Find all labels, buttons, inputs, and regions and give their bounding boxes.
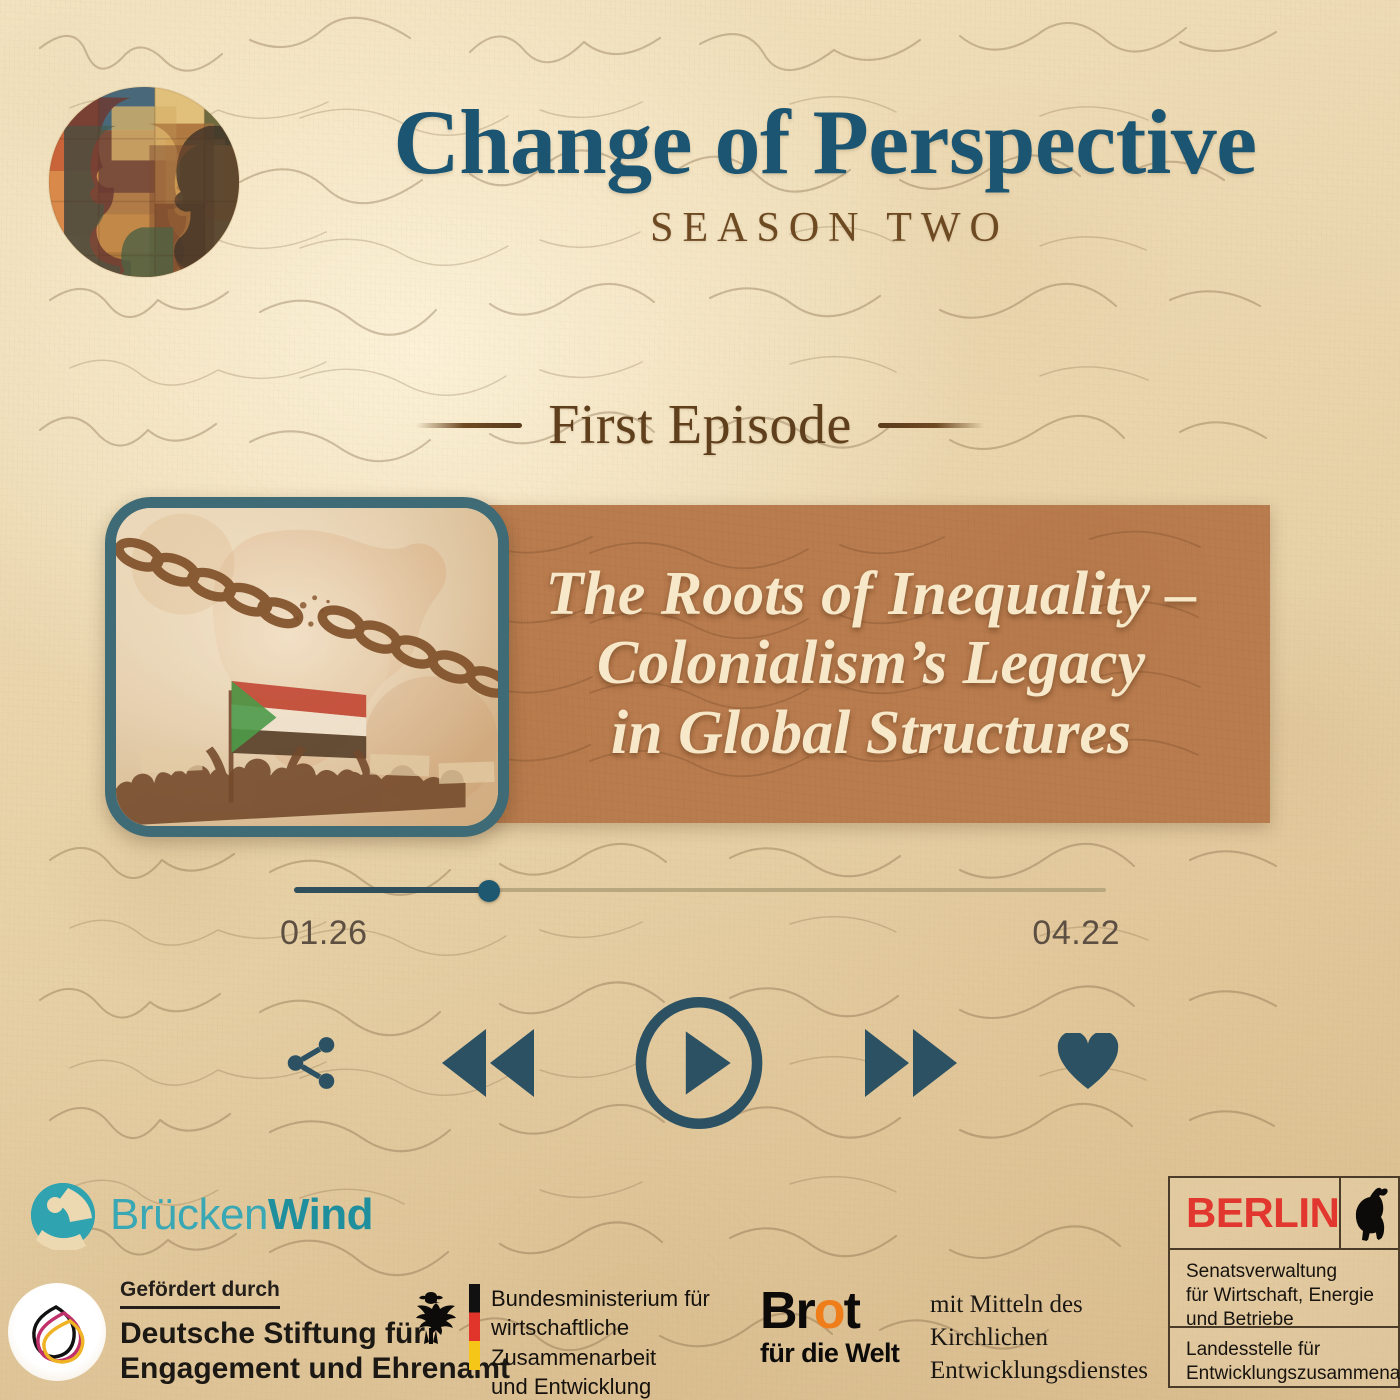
- brueckenwind-part-1: Brücken: [110, 1190, 268, 1239]
- title-block: Change of Perspective SEASON TWO: [280, 96, 1370, 252]
- fast-forward-button[interactable]: [859, 1022, 963, 1104]
- broken-chain-sudan-flag-protest-artwork-icon: [116, 508, 498, 826]
- episode-title-line-1: The Roots of Inequality –: [545, 560, 1196, 628]
- ked-text-block: mit Mitteln des Kirchlichen Entwicklungs…: [930, 1288, 1148, 1387]
- berlin-dept-line-3: und Betriebe: [1186, 1309, 1294, 1330]
- berlin-wordmark: BERLIN: [1170, 1178, 1339, 1248]
- bmz-text: Bundesministerium für wirtschaftliche Zu…: [491, 1284, 741, 1400]
- play-icon: [633, 997, 765, 1129]
- episode-title-line-2: Colonialism’s Legacy: [597, 629, 1145, 697]
- page-title: Change of Perspective: [280, 96, 1370, 190]
- fast-forward-icon: [859, 1022, 963, 1104]
- episode-title: The Roots of Inequality – Colonialism’s …: [490, 560, 1270, 768]
- berlin-office-line-1: Landesstelle für: [1186, 1339, 1320, 1360]
- heart-icon: [1056, 1033, 1120, 1093]
- bmz-line-2: wirtschaftliche Zusammenarbeit: [491, 1315, 656, 1369]
- faces-collage-logo-icon: [36, 74, 252, 290]
- dsee-droplet-mark-icon: [8, 1283, 106, 1381]
- progress-slider[interactable]: [294, 880, 1106, 900]
- berlin-dept-line-2: für Wirtschaft, Energie: [1186, 1285, 1374, 1306]
- brot-fuer-die-welt-logo: Brot für die Welt: [760, 1288, 899, 1369]
- brueckenwind-mark-icon: [28, 1180, 98, 1250]
- episode-thumbnail[interactable]: [105, 497, 509, 837]
- rewind-button[interactable]: [436, 1022, 540, 1104]
- play-button[interactable]: [633, 997, 765, 1129]
- decorative-rule-right: [878, 423, 984, 428]
- german-eagle-icon: [404, 1286, 458, 1346]
- share-button[interactable]: [280, 1032, 342, 1094]
- brueckenwind-part-2: Wind: [268, 1190, 373, 1239]
- berlin-office-text: Landesstelle für Entwicklungszusammenarb…: [1170, 1328, 1398, 1386]
- episode-label: First Episode: [548, 393, 852, 457]
- like-button[interactable]: [1056, 1033, 1120, 1093]
- german-flag-bar-icon: [469, 1284, 480, 1370]
- share-icon: [280, 1032, 342, 1094]
- bmz-line-1: Bundesministerium für: [491, 1286, 710, 1311]
- rewind-icon: [436, 1022, 540, 1104]
- ked-line-1: mit Mitteln des: [930, 1291, 1083, 1318]
- dsee-name-line-1: Deutsche Stiftung für: [120, 1317, 425, 1350]
- episode-title-line-3: in Global Structures: [611, 699, 1131, 767]
- brot-word-part-1: Br: [760, 1282, 814, 1340]
- bmz-logo-block: Bundesministerium für wirtschaftliche Zu…: [404, 1284, 741, 1400]
- brot-wordmark: Brot: [760, 1288, 899, 1336]
- header: Change of Perspective SEASON TWO: [0, 62, 1400, 292]
- brueckenwind-logo: BrückenWind: [28, 1180, 373, 1250]
- season-label: SEASON TWO: [280, 204, 1370, 252]
- remaining-time: 04.22: [1032, 914, 1120, 953]
- time-row: 01.26 04.22: [280, 914, 1120, 953]
- ked-line-3: Entwicklungsdienstes: [930, 1357, 1148, 1384]
- podcast-episode-card: Change of Perspective SEASON TWO First E…: [0, 0, 1400, 1400]
- sponsor-footer: BrückenWind Gefördert durch Deutsche Sti…: [0, 1180, 1400, 1400]
- progress-filled: [294, 887, 489, 893]
- bmz-line-3: und Entwicklung: [491, 1374, 651, 1399]
- elapsed-time: 01.26: [280, 914, 368, 953]
- berlin-logo-header: BERLIN: [1170, 1178, 1398, 1250]
- berlin-bear-icon: [1339, 1178, 1398, 1248]
- dsee-kicker: Gefördert durch: [120, 1278, 280, 1309]
- decorative-rule-left: [416, 423, 522, 428]
- playback-controls: [280, 997, 1120, 1129]
- progress-handle[interactable]: [478, 880, 500, 902]
- episode-label-row: First Episode: [0, 393, 1400, 457]
- berlin-office-line-2: Entwicklungszusammenarbeit: [1186, 1363, 1400, 1384]
- episode-card: The Roots of Inequality – Colonialism’s …: [0, 497, 1400, 837]
- berlin-department-text: Senatsverwaltung für Wirtschaft, Energie…: [1170, 1250, 1398, 1328]
- brot-word-o: o: [814, 1282, 844, 1340]
- audio-player: 01.26 04.22: [0, 880, 1400, 1129]
- berlin-senate-logo: BERLIN Senatsverwaltung für Wirtschaft, …: [1168, 1176, 1400, 1388]
- berlin-dept-line-1: Senatsverwaltung: [1186, 1261, 1337, 1282]
- brueckenwind-wordmark: BrückenWind: [110, 1190, 373, 1240]
- ked-line-2: Kirchlichen: [930, 1324, 1048, 1351]
- brot-word-part-2: t: [844, 1282, 859, 1340]
- brot-subtitle: für die Welt: [760, 1338, 899, 1369]
